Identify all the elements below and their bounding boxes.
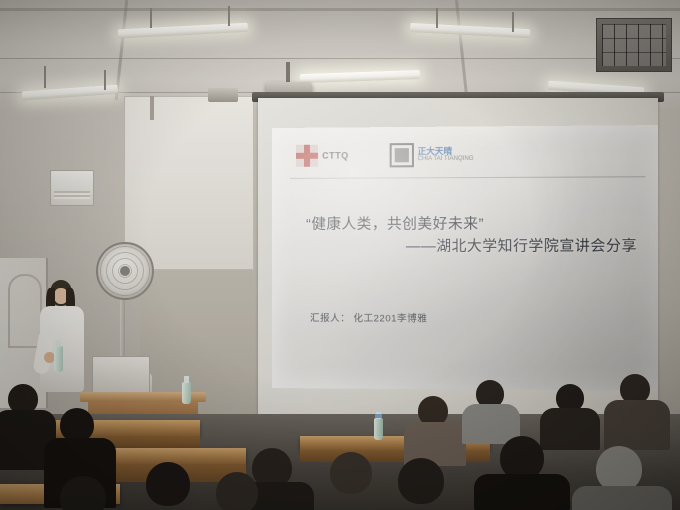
light-stem: [228, 6, 230, 26]
projected-slide: CTTQ 正大天晴 CHIA TAI TIANQING “健康人类，共创美好未来…: [272, 125, 658, 391]
bottle-cap: [375, 414, 382, 418]
water-bottle: [182, 382, 191, 404]
light-stem: [512, 12, 514, 32]
slide-title-line-1: “健康人类，共创美好未来”: [306, 216, 484, 232]
square-mark-icon: [389, 143, 413, 167]
light-stem: [436, 8, 438, 28]
ceiling-equipment-cage: [596, 18, 672, 72]
ceiling-seam: [0, 58, 680, 59]
light-stem: [44, 66, 46, 88]
slide-title-line-2: ——湖北大学知行学院宣讲会分享: [306, 236, 641, 259]
cross-mark-icon: [296, 145, 318, 167]
wall-air-conditioner: [50, 170, 94, 206]
ceiling-beam: [0, 8, 680, 11]
water-bottle: [54, 346, 63, 372]
slide-divider: [290, 176, 645, 179]
lawn-logo-text: 正大天晴 CHIA TAI TIANQING: [418, 147, 474, 163]
wall-pipe: [150, 96, 154, 120]
lawn-logo-primary: 正大天晴: [418, 147, 474, 156]
lawn-logo: 正大天晴 CHIA TAI TIANQING: [389, 143, 473, 168]
light-stem: [104, 70, 106, 90]
projector-mount: [286, 62, 290, 84]
slide-logo-row: CTTQ 正大天晴 CHIA TAI TIANQING: [296, 143, 474, 168]
door-panel: [8, 274, 42, 348]
water-bottle: [374, 418, 383, 440]
pedestal-fan: [96, 242, 154, 300]
wall-panel: [124, 96, 254, 270]
fan-grille: [98, 244, 152, 298]
cttq-logo-text: CTTQ: [322, 151, 349, 161]
cttq-logo: CTTQ: [296, 144, 349, 166]
photo-scene: CTTQ 正大天晴 CHIA TAI TIANQING “健康人类，共创美好未来…: [0, 0, 680, 510]
slide-title: “健康人类，共创美好未来” ——湖北大学知行学院宣讲会分享: [306, 213, 641, 259]
slide-presenter-line: 汇报人： 化工2201李博雅: [310, 310, 427, 324]
wall-speaker: [208, 88, 238, 102]
cage-grid: [602, 24, 666, 66]
light-stem: [150, 8, 152, 28]
lawn-logo-secondary: CHIA TAI TIANQING: [418, 156, 474, 163]
